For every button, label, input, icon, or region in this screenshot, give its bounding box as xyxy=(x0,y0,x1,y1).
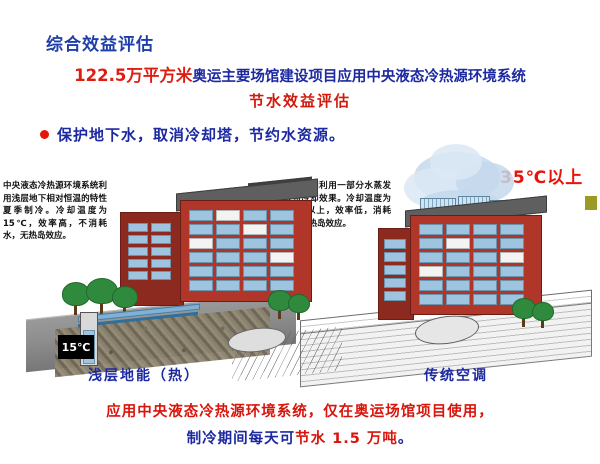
window xyxy=(243,238,267,249)
left-building-front-windows xyxy=(189,210,294,291)
window xyxy=(189,210,213,221)
window xyxy=(270,224,294,235)
window xyxy=(128,235,148,244)
window xyxy=(419,224,443,235)
tree-trunk xyxy=(278,311,281,319)
slide-canvas: 综合效益评估 122.5万平方米奥运主要场馆建设项目应用中央液态冷热源环境系统 … xyxy=(0,0,600,464)
right-building-side-windows xyxy=(384,239,406,301)
right-building-front-windows xyxy=(419,224,524,305)
steam-cloud-top xyxy=(430,144,482,180)
window xyxy=(189,238,213,249)
window xyxy=(473,266,497,277)
window xyxy=(446,224,470,235)
window xyxy=(189,266,213,277)
window xyxy=(128,223,148,232)
window xyxy=(446,266,470,277)
tree-trunk xyxy=(541,321,544,328)
tree-left-4 xyxy=(268,290,290,316)
window xyxy=(384,252,406,262)
bullet-line: 保护地下水，取消冷却塔，节约水资源。 xyxy=(40,124,345,145)
window xyxy=(189,224,213,235)
window xyxy=(419,294,443,305)
window xyxy=(189,252,213,263)
left-caption: 浅层地能（热） xyxy=(88,365,200,385)
window xyxy=(473,294,497,305)
left-building-main-facade xyxy=(180,200,312,302)
conclusion-line-2-end: 。 xyxy=(398,431,414,447)
window xyxy=(473,238,497,249)
window xyxy=(500,252,524,263)
window xyxy=(384,291,406,301)
window xyxy=(151,271,171,280)
window xyxy=(270,266,294,277)
window xyxy=(151,235,171,244)
subtitle-line-2: 节水效益评估 xyxy=(0,90,600,111)
window xyxy=(128,247,148,256)
window xyxy=(216,252,240,263)
tree-right-2 xyxy=(532,302,552,326)
tree-crown xyxy=(288,294,310,313)
tree-crown xyxy=(532,302,554,321)
tree-left-1 xyxy=(62,282,88,312)
window xyxy=(151,259,171,268)
subtitle-line-1: 122.5万平方米奥运主要场馆建设项目应用中央液态冷热源环境系统 xyxy=(0,62,600,86)
window xyxy=(216,238,240,249)
window xyxy=(384,239,406,249)
tree-trunk xyxy=(74,306,77,315)
window xyxy=(216,266,240,277)
window xyxy=(189,280,213,291)
window xyxy=(473,252,497,263)
page-title: 综合效益评估 xyxy=(46,30,154,55)
window xyxy=(270,210,294,221)
window xyxy=(446,294,470,305)
conclusion-line-1: 应用中央液态冷热源环境系统，仅在奥运场馆项目使用， xyxy=(0,400,600,421)
tree-left-5 xyxy=(288,294,308,318)
tree-trunk xyxy=(522,319,525,327)
conclusion-line-2-prefix: 制冷期间每天可 xyxy=(187,431,296,447)
tree-right-1 xyxy=(512,298,534,324)
window xyxy=(151,247,171,256)
window xyxy=(216,224,240,235)
window xyxy=(473,224,497,235)
left-building-side-windows xyxy=(128,223,171,280)
window xyxy=(384,265,406,275)
window xyxy=(473,280,497,291)
subtitle-remainder: 奥运主要场馆建设项目应用中央液态冷热源环境系统 xyxy=(192,69,526,85)
left-temperature-badge: 15℃ xyxy=(58,335,94,359)
subtitle-area-figure: 122.5万平方米 xyxy=(74,66,192,85)
window xyxy=(500,224,524,235)
window xyxy=(216,280,240,291)
window xyxy=(419,266,443,277)
window xyxy=(446,238,470,249)
right-caption: 传统空调 xyxy=(424,365,488,385)
window xyxy=(500,238,524,249)
window xyxy=(128,259,148,268)
tree-trunk xyxy=(297,313,300,320)
window xyxy=(243,266,267,277)
window xyxy=(243,210,267,221)
bullet-label: 保护地下水，取消冷却塔，节约水资源。 xyxy=(57,124,345,145)
window xyxy=(419,252,443,263)
window xyxy=(500,280,524,291)
window xyxy=(216,210,240,221)
bullet-dot-icon xyxy=(40,130,49,139)
window xyxy=(419,280,443,291)
window xyxy=(500,266,524,277)
right-building-side-facade xyxy=(378,228,414,320)
window xyxy=(243,252,267,263)
window xyxy=(446,280,470,291)
conclusion-line-2: 制冷期间每天可节水 1.5 万吨。 xyxy=(0,427,600,448)
window xyxy=(270,238,294,249)
window xyxy=(128,271,148,280)
window xyxy=(151,223,171,232)
tree-crown xyxy=(112,286,138,308)
window xyxy=(384,278,406,288)
window xyxy=(446,252,470,263)
window xyxy=(270,252,294,263)
window xyxy=(243,280,267,291)
window xyxy=(243,224,267,235)
window xyxy=(419,238,443,249)
conclusion-savings-figure: 节水 1.5 万吨 xyxy=(295,431,398,447)
